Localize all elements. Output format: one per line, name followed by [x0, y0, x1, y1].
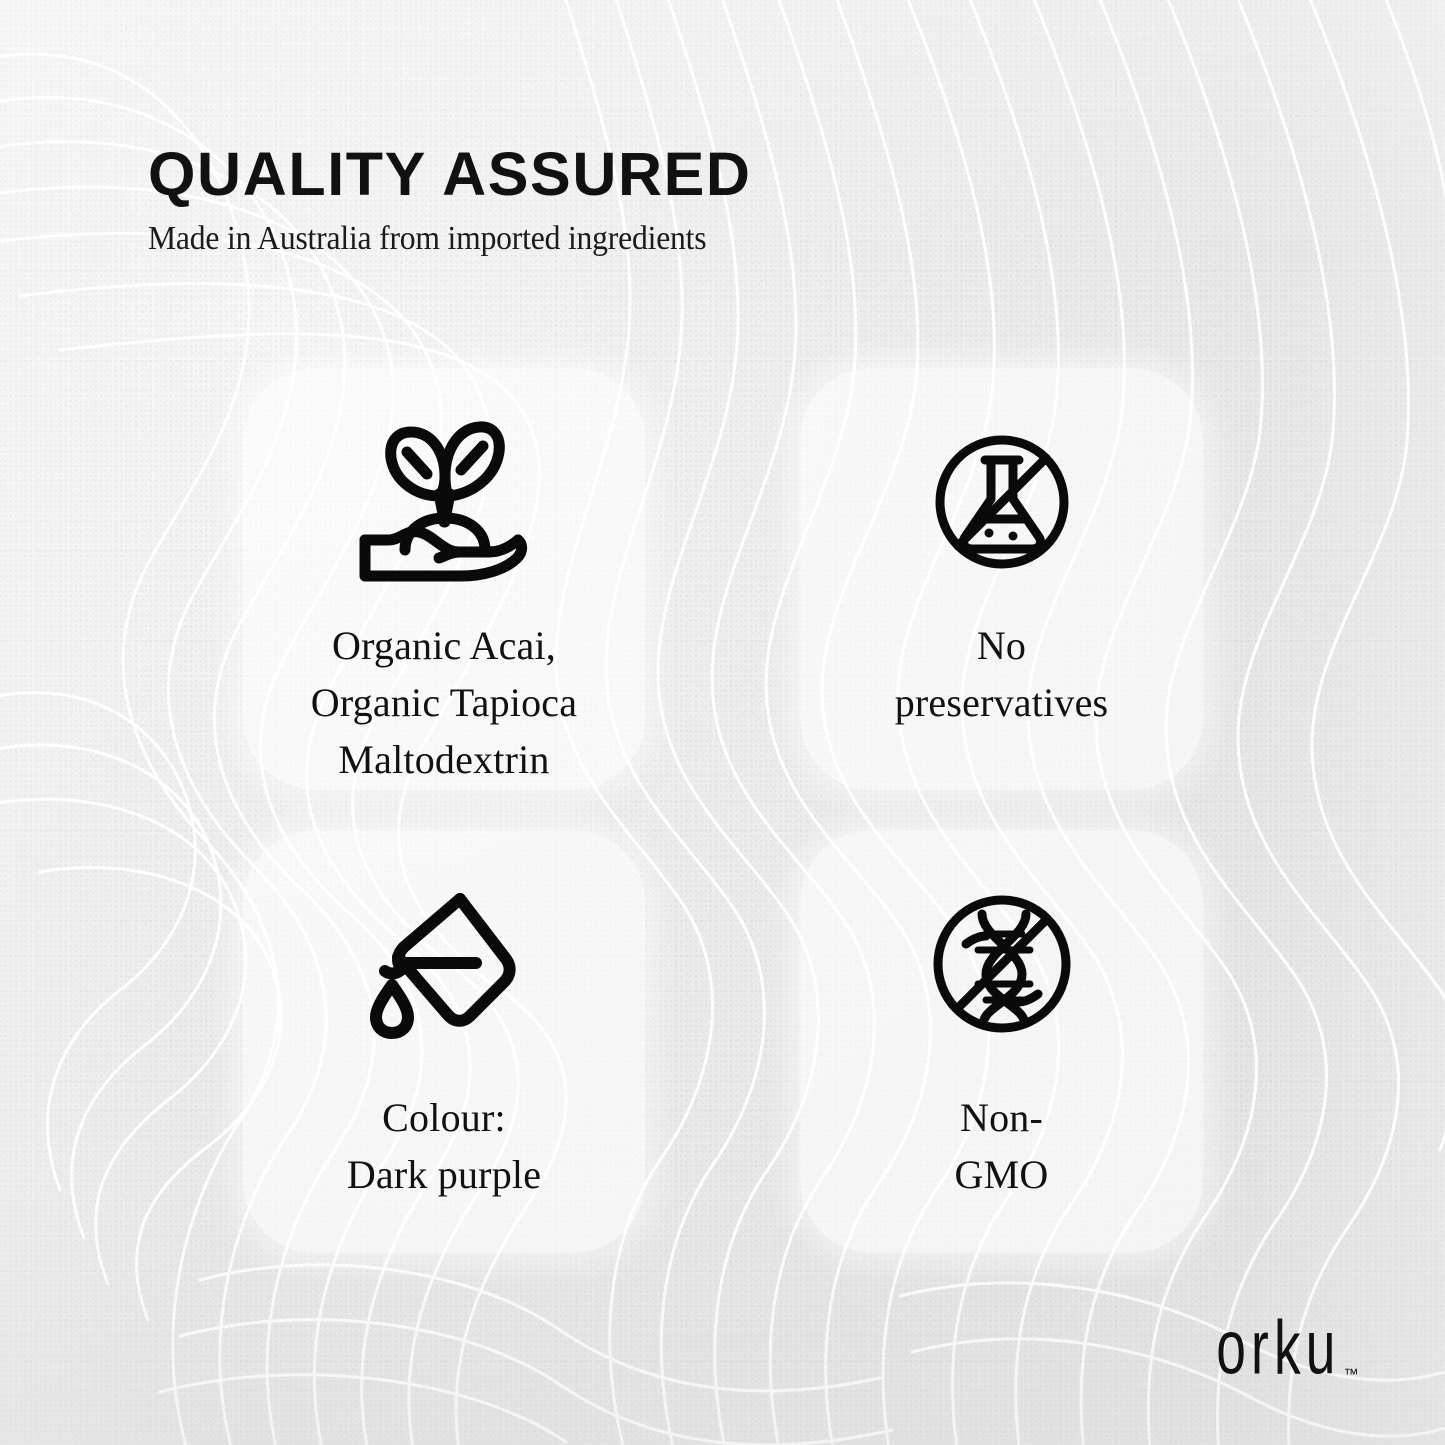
- feature-card-label: Non- GMO: [847, 1090, 1157, 1204]
- label-line: Maltodextrin: [338, 737, 549, 782]
- feature-card-label: Organic Acai, Organic Tapioca Maltodextr…: [274, 618, 614, 788]
- brand-wordmark: orku: [1216, 1311, 1340, 1387]
- trademark-symbol: ™: [1344, 1366, 1360, 1383]
- paint-bucket-drop-icon: [364, 864, 524, 1064]
- feature-card-label: Colour: Dark purple: [274, 1090, 614, 1204]
- label-line: Organic Tapioca: [311, 680, 577, 725]
- infographic-panel: QUALITY ASSURED Made in Australia from i…: [0, 0, 1445, 1445]
- feature-card-colour: Colour: Dark purple: [243, 830, 645, 1253]
- feature-card-label: No preservatives: [847, 618, 1157, 732]
- label-line: Non-: [960, 1095, 1043, 1140]
- feature-card-ingredients: Organic Acai, Organic Tapioca Maltodextr…: [243, 368, 645, 790]
- label-line: preservatives: [895, 680, 1109, 725]
- label-line: No: [977, 623, 1026, 668]
- label-line: Dark purple: [347, 1152, 541, 1197]
- page-title: QUALITY ASSURED: [148, 142, 1048, 206]
- feature-card-grid: Organic Acai, Organic Tapioca Maltodextr…: [243, 368, 1203, 1253]
- label-line: Organic Acai,: [332, 623, 556, 668]
- label-line: Colour:: [382, 1095, 506, 1140]
- feature-card-no-preservatives: No preservatives: [800, 368, 1203, 790]
- no-dna-icon: [926, 864, 1078, 1064]
- no-flask-icon: [927, 402, 1077, 602]
- brand-logo: orku ™: [1196, 1325, 1359, 1387]
- label-line: GMO: [955, 1152, 1049, 1197]
- feature-card-non-gmo: Non- GMO: [800, 830, 1203, 1253]
- page-subtitle: Made in Australia from imported ingredie…: [148, 220, 985, 258]
- header: QUALITY ASSURED Made in Australia from i…: [148, 142, 1048, 258]
- hand-holding-sprout-icon: [355, 402, 533, 602]
